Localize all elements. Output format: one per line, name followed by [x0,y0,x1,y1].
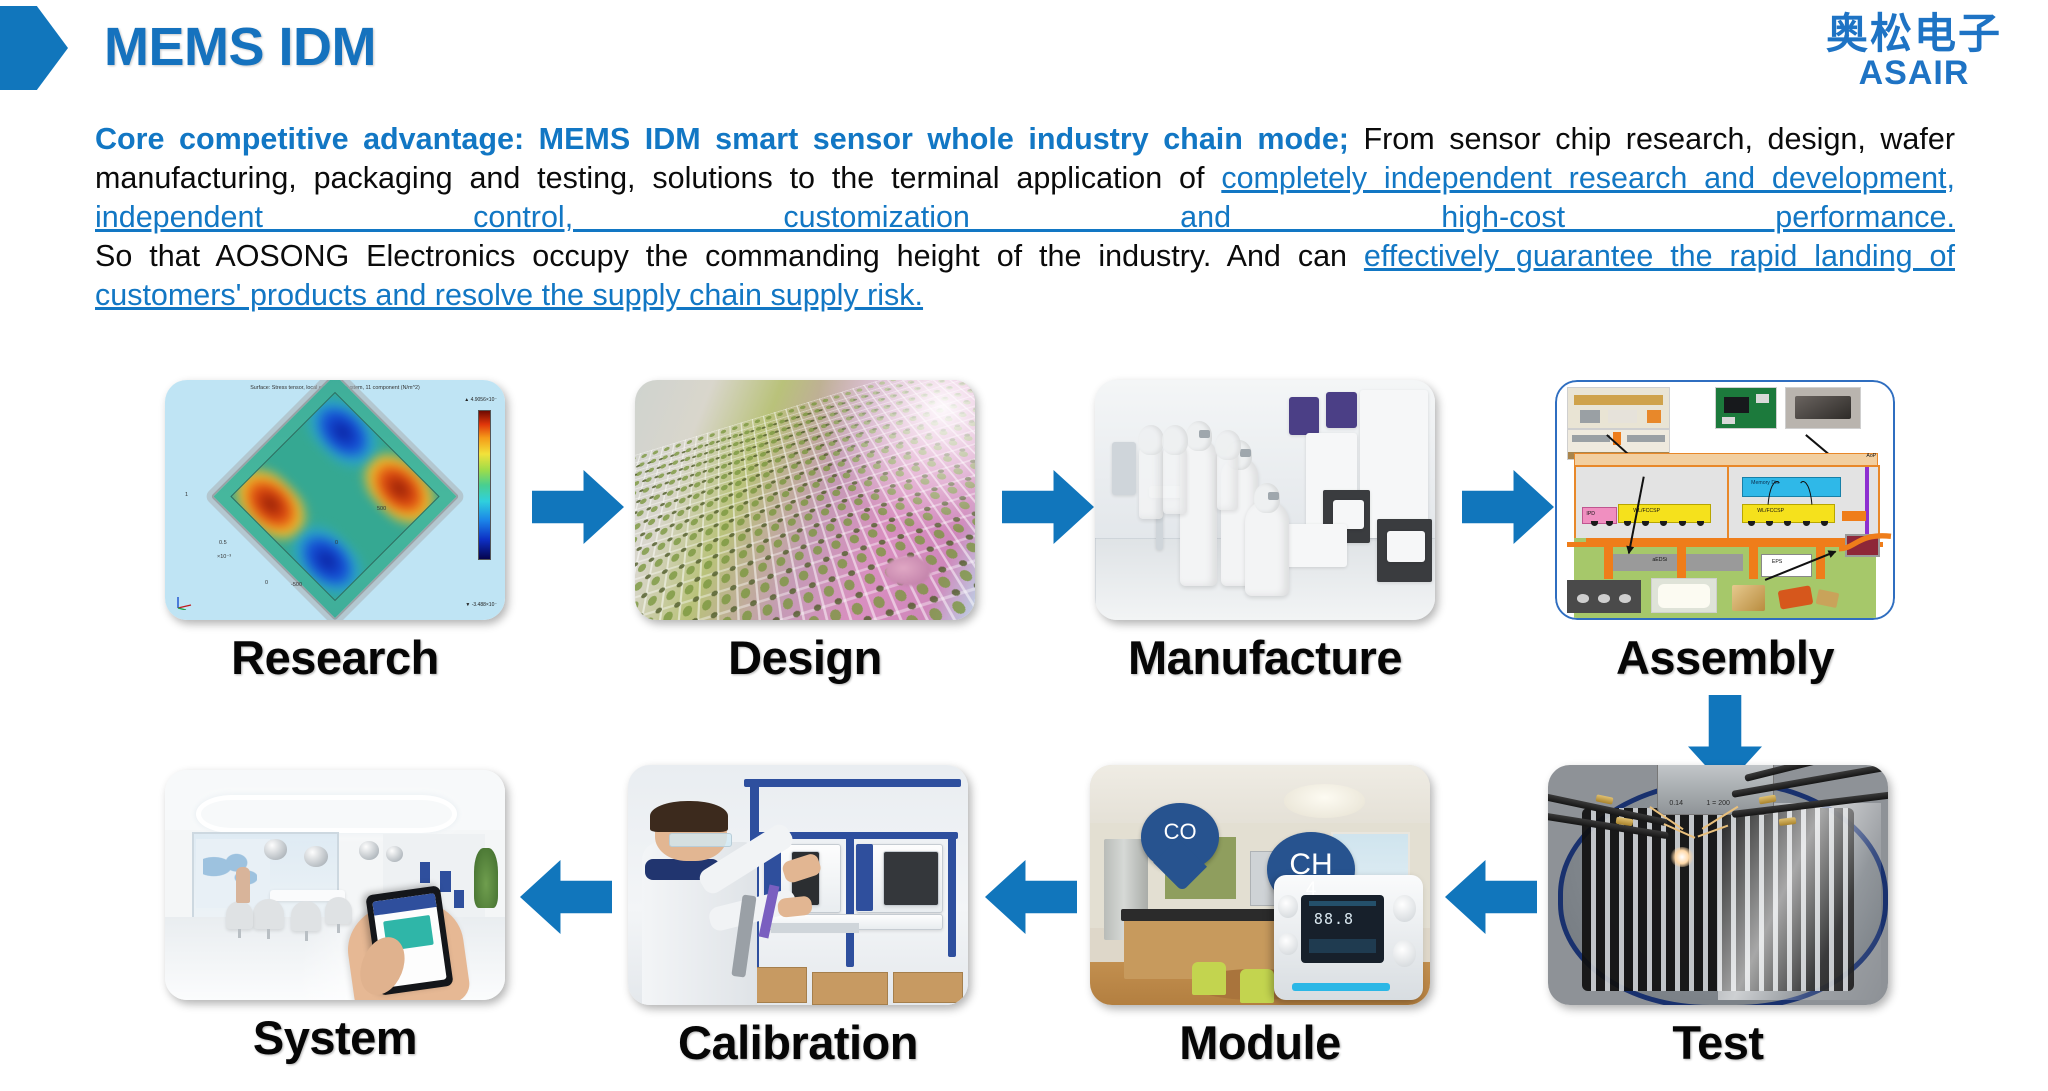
comsol-stress-plot-image: Surface: Stress tensor, local coordinate… [165,380,505,620]
commanding-height-text: So that AOSONG Electronics occupy the co… [95,239,1364,273]
pin-marker-co: CO [1141,803,1219,870]
asm-label-eps: EPS [1772,559,1782,565]
axis-triad-icon [174,594,194,610]
wall-panel-1 [420,862,430,883]
cleanroom-image [1095,380,1435,620]
asm-tile-pcb [1715,387,1777,429]
probe-ferrule-1 [1595,794,1613,804]
pentagon-arrow-icon [0,6,68,90]
asm-tile-package-photo [1785,387,1861,429]
arrow-manufacture-to-assembly [1462,470,1554,544]
asm-flex-rail [1567,542,1883,547]
office-chair-3 [325,897,352,925]
detector-down-button[interactable] [1393,940,1415,966]
flow-label-system: System [165,1010,505,1065]
asm-tile-blank-pkg [1651,578,1717,613]
design-thumbnail[interactable] [635,380,975,620]
flow-node-module[interactable]: CO CH4 88.8 [1090,765,1430,1070]
logo-english-text: ASAIR [1794,54,2034,93]
pendant-lamp-1 [264,839,288,860]
wall-panel-3 [454,890,464,908]
manufacture-thumbnail[interactable] [1095,380,1435,620]
paragraph-1: Core competitive advantage: MEMS IDM sma… [95,120,1955,237]
arrow-test-to-module [1445,860,1537,934]
flow-node-manufacture[interactable]: Manufacture [1095,380,1435,685]
arrow-research-to-design [532,470,624,544]
system-thumbnail[interactable] [165,770,505,1000]
asm-tile-flex-parts [1779,583,1839,614]
flow-label-manufacture: Manufacture [1095,630,1435,685]
lens-mark-2: 1 = 200 [1706,800,1730,807]
dining-chair-2 [1240,969,1274,1003]
silicon-wafer-image [635,380,975,620]
world-map-wall [196,839,271,908]
test-thumbnail[interactable]: 0.14 1 = 200 [1548,765,1888,1005]
flow-node-research[interactable]: Surface: Stress tensor, local coordinate… [165,380,505,685]
cleanroom-operator-3 [1245,500,1289,596]
flow-node-design[interactable]: Design [635,380,975,685]
office-plant [474,848,498,908]
advantage-headline: Core competitive advantage: MEMS IDM sma… [95,122,1349,156]
paragraph-2: So that AOSONG Electronics occupy the co… [95,237,1955,315]
colorbar [478,410,491,560]
arrow-module-to-calibration [985,860,1077,934]
cleanroom-operator-6 [1217,447,1237,509]
probe-contact-point [1670,847,1694,867]
asm-label-ipd: IPD [1586,511,1595,517]
flow-node-calibration[interactable]: Calibration [628,765,968,1070]
wafer-glare [819,380,975,529]
asm-bond-wires [1727,475,1854,506]
home-gas-detector-image: CO CH4 88.8 [1090,765,1430,1005]
detector-status-led [1292,983,1391,992]
arrow-calibration-to-system [520,860,612,934]
flow-node-test[interactable]: 0.14 1 = 200 [1548,765,1888,1070]
asm-label-wlfccsp-2: WL/FCCSP [1757,508,1784,514]
arrow-design-to-manufacture [1002,470,1094,544]
ceiling-light-cove [196,795,458,833]
stress-plate-shape [211,380,460,620]
research-thumbnail[interactable]: Surface: Stress tensor, local coordinate… [165,380,505,620]
pendant-lamp-4 [386,846,403,862]
lens-mark-1: 0.14 [1669,800,1683,807]
asm-label-aedsi: aEDSi [1652,557,1667,563]
package-cross-section-image: Memory Die WL/FCCSP WL/FCCSP IPD [1555,380,1895,620]
flow-label-research: Research [165,630,505,685]
calibration-thumbnail[interactable] [628,765,968,1005]
pin-marker-ch4: CH4 [1267,832,1355,906]
flow-label-test: Test [1548,1015,1888,1070]
flow-label-module: Module [1090,1015,1430,1070]
technician-bench-image [628,765,968,1005]
flow-label-calibration: Calibration [628,1015,968,1070]
detector-reading: 88.8 [1314,910,1354,928]
pendant-lamp-3 [359,841,379,859]
asm-label-aop: AoP [1866,453,1876,459]
smart-office-image [165,770,505,1000]
pendant-lamp-2 [304,846,328,867]
dining-chair-1 [1192,962,1226,996]
technician-hair [650,801,728,832]
safety-goggles [669,833,732,847]
detector-up-button[interactable] [1393,895,1415,921]
module-thumbnail[interactable]: CO CH4 88.8 [1090,765,1430,1005]
body-paragraph: Core competitive advantage: MEMS IDM sma… [95,120,1955,315]
detector-display: 88.8 [1301,895,1385,962]
office-chair-1 [253,899,284,929]
asm-tile-top-left-1 [1567,387,1670,429]
pin-ch4-main: CH [1267,850,1355,880]
office-chair-2 [291,901,322,931]
asm-tile-mlcc [1732,585,1766,611]
slide-root: MEMS IDM 奥松电子 ASAIR Core competitive adv… [0,0,2048,1091]
company-logo: 奥松电子 ASAIR [1794,12,2034,93]
probe-station-image: 0.14 1 = 200 [1548,765,1888,1005]
pin-ch4-subscript: 4 [1267,880,1355,899]
wall-panel-2 [440,871,450,892]
pendant-lamp [1284,784,1366,818]
office-chair-4 [226,901,253,929]
cleanroom-operator-5 [1163,442,1187,514]
asm-tile-tape-reel [1567,580,1641,613]
wafer-reflection [1718,803,1881,1000]
asm-flex-tail [1839,524,1893,566]
flow-label-design: Design [635,630,975,685]
detector-left-button-2[interactable] [1278,933,1297,955]
flow-node-system[interactable]: System [165,770,505,1065]
flow-label-assembly: Assembly [1555,630,1895,685]
kitchen-counter [1121,909,1291,921]
page-title: MEMS IDM [104,16,376,78]
process-flow-diagram: Surface: Stress tensor, local coordinate… [0,350,2048,1091]
stress-field [230,392,439,601]
flow-node-assembly[interactable]: Memory Die WL/FCCSP WL/FCCSP IPD [1555,380,1895,685]
colorbar-max-label: ▲ 4.9056×10⁻ [464,397,497,403]
colorbar-min-label: ▼ -3.488×10⁻ [465,602,497,608]
logo-chinese-text: 奥松电子 [1794,12,2034,56]
assembly-thumbnail[interactable]: Memory Die WL/FCCSP WL/FCCSP IPD [1555,380,1895,620]
cleanroom-operator-4 [1139,442,1163,519]
standing-person [236,867,250,904]
